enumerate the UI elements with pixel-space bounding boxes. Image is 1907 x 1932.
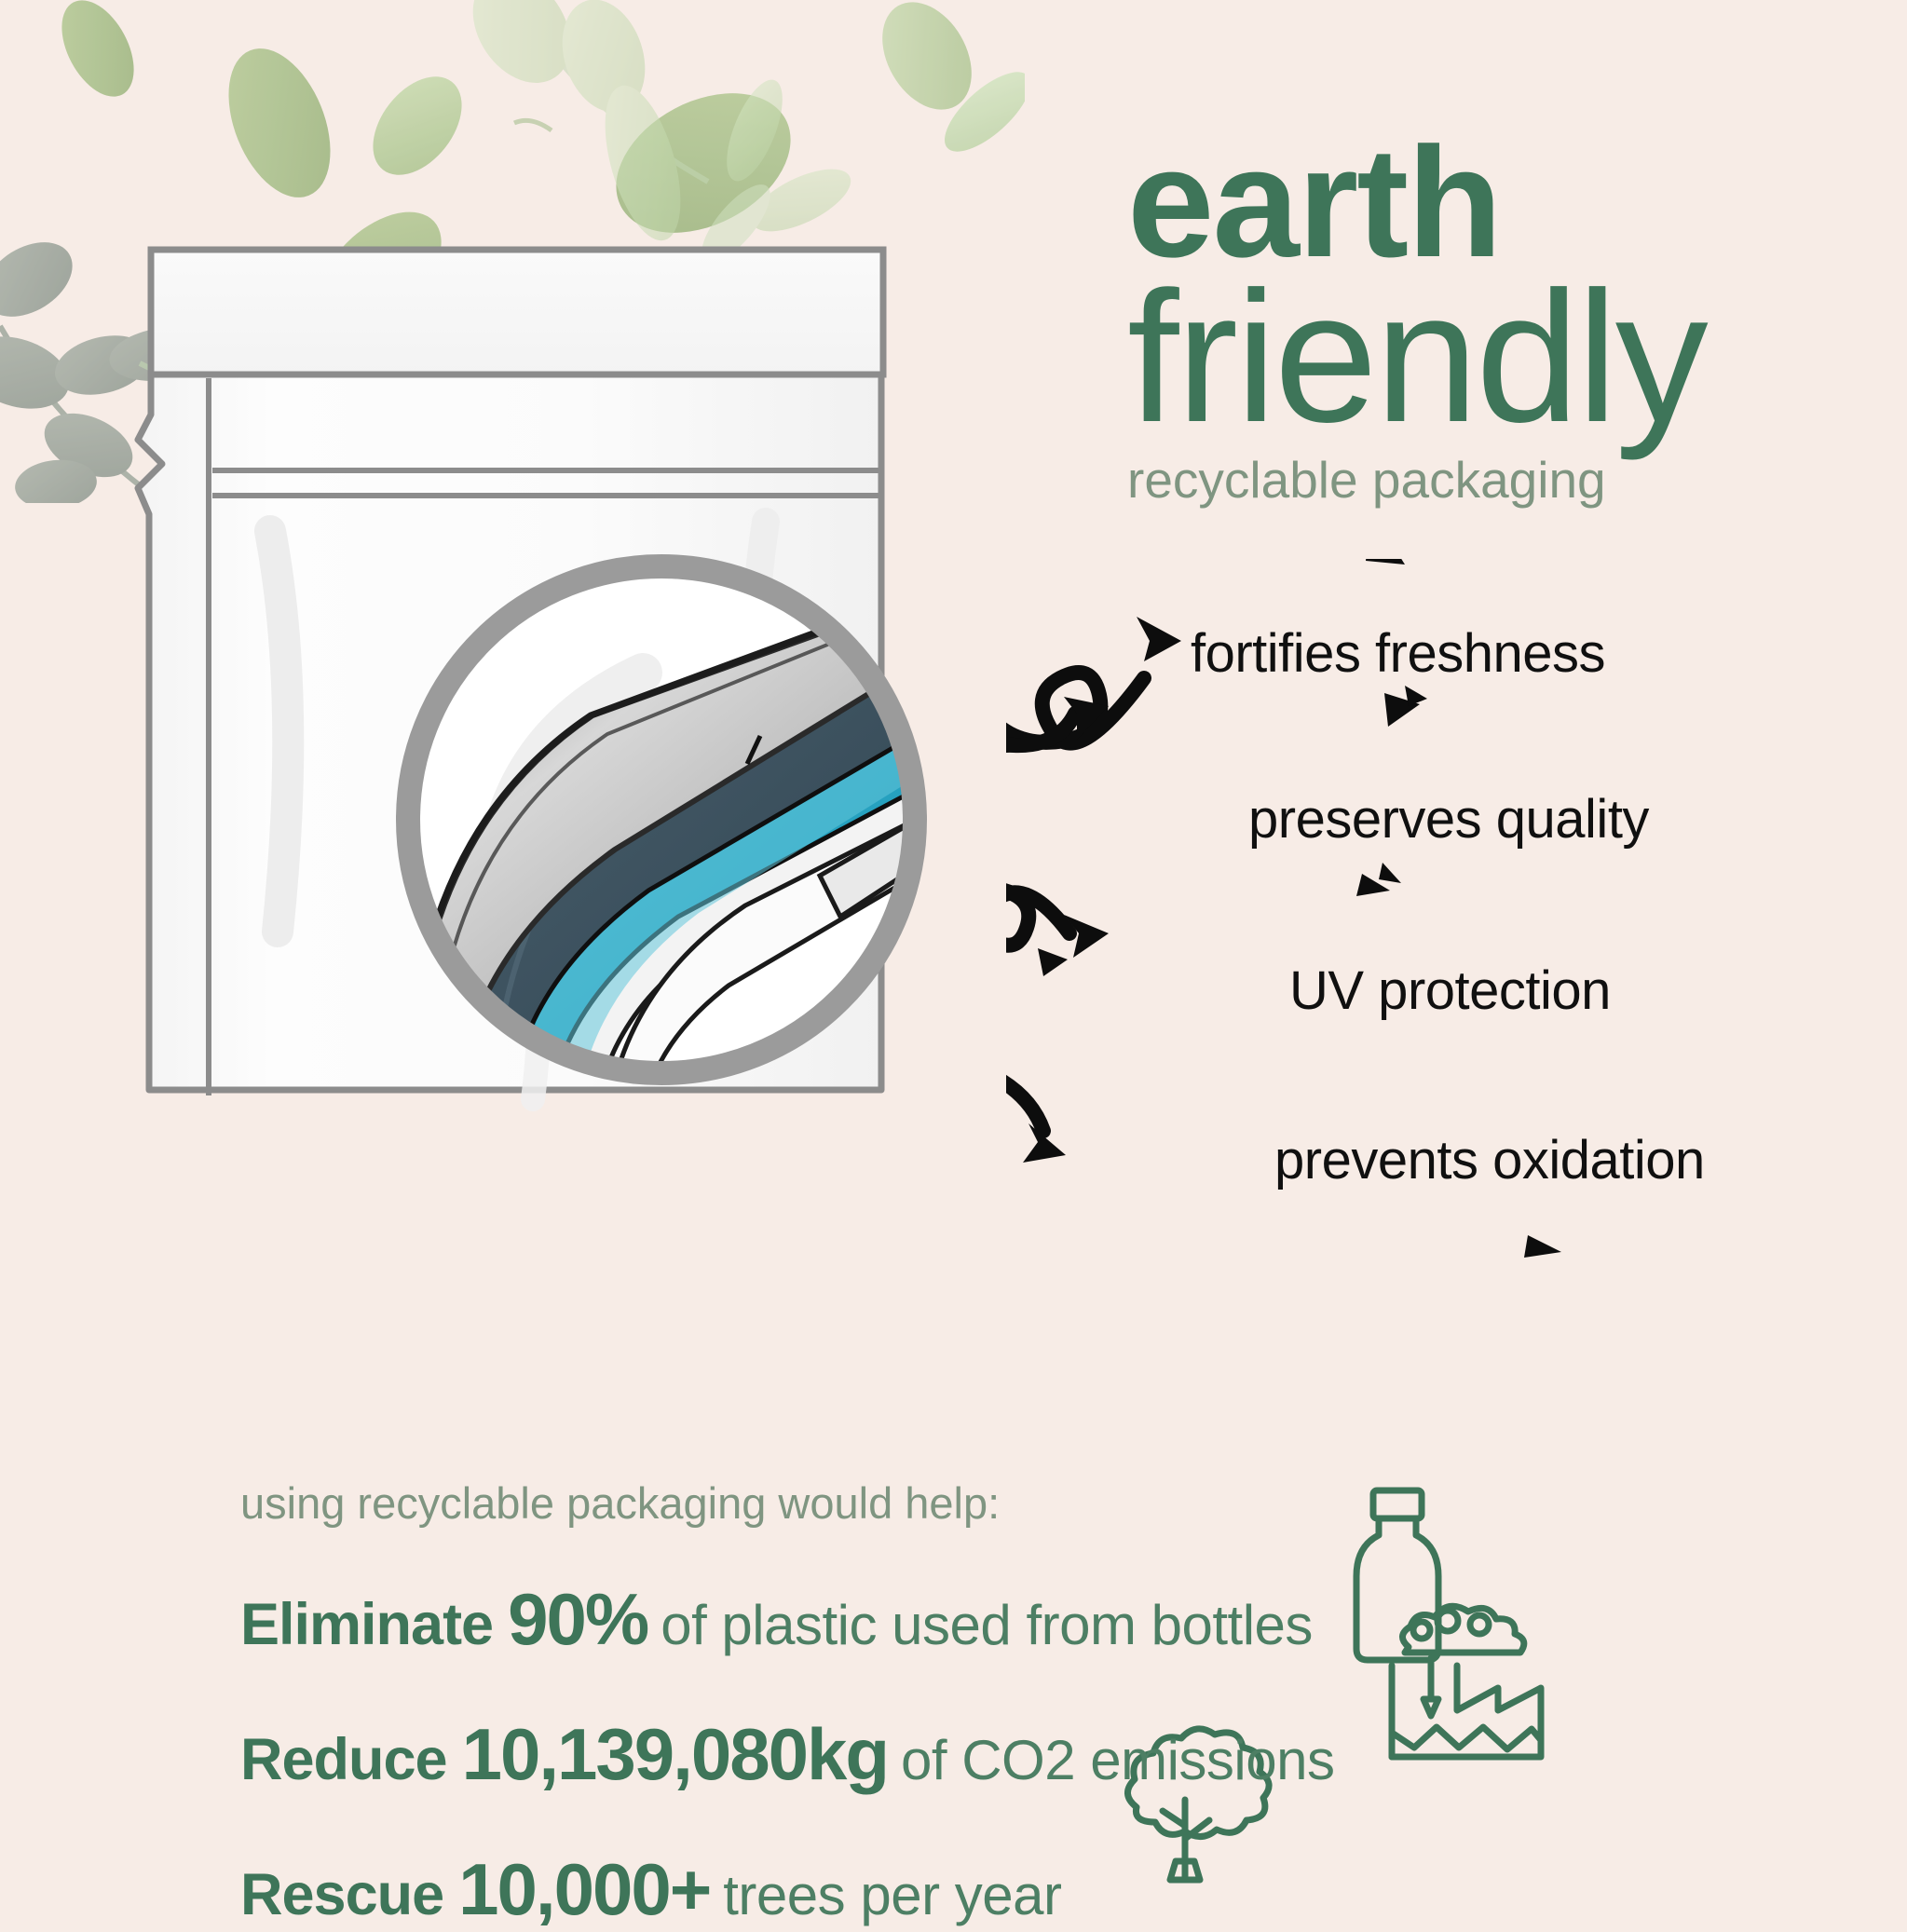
stat-value-rescue: 10,000+: [443, 1847, 723, 1932]
heading-subtitle: recyclable packaging: [1127, 450, 1882, 510]
stat-tail-rescue: trees per year: [723, 1863, 1061, 1927]
stats-intro-text: using recyclable packaging would help:: [240, 1477, 1638, 1529]
stat-value-reduce: 10,139,080kg: [447, 1712, 901, 1797]
stat-tail-eliminate: of plastic used from bottles: [661, 1593, 1313, 1657]
heading-line-friendly: friendly: [1127, 269, 1882, 446]
stat-row-rescue: Rescue 10,000+ trees per year: [240, 1847, 1638, 1932]
infographic-canvas: earth friendly recyclable packaging fort…: [0, 0, 1907, 1908]
page-heading: earth friendly recyclable packaging: [1127, 130, 1882, 510]
stat-verb-rescue: Rescue: [240, 1861, 443, 1928]
feature-label-preserves-quality: preserves quality: [1248, 788, 1649, 850]
feature-label-uv-protection: UV protection: [1289, 959, 1611, 1022]
feature-label-prevents-oxidation: prevents oxidation: [1274, 1129, 1705, 1191]
stat-row-eliminate: Eliminate 90% of plastic used from bottl…: [240, 1577, 1638, 1662]
magnifier-lens-cross-section: [382, 522, 960, 1118]
stat-verb-reduce: Reduce: [240, 1726, 447, 1793]
stat-value-eliminate: 90%: [493, 1577, 661, 1662]
feature-label-fortifies-freshness: fortifies freshness: [1191, 622, 1605, 685]
stat-verb-eliminate: Eliminate: [240, 1591, 493, 1658]
stats-block: using recyclable packaging would help: E…: [240, 1477, 1638, 1932]
stat-tail-reduce: of CO2 emissions: [901, 1728, 1335, 1792]
stat-row-reduce: Reduce 10,139,080kg of CO2 emissions: [240, 1712, 1638, 1797]
